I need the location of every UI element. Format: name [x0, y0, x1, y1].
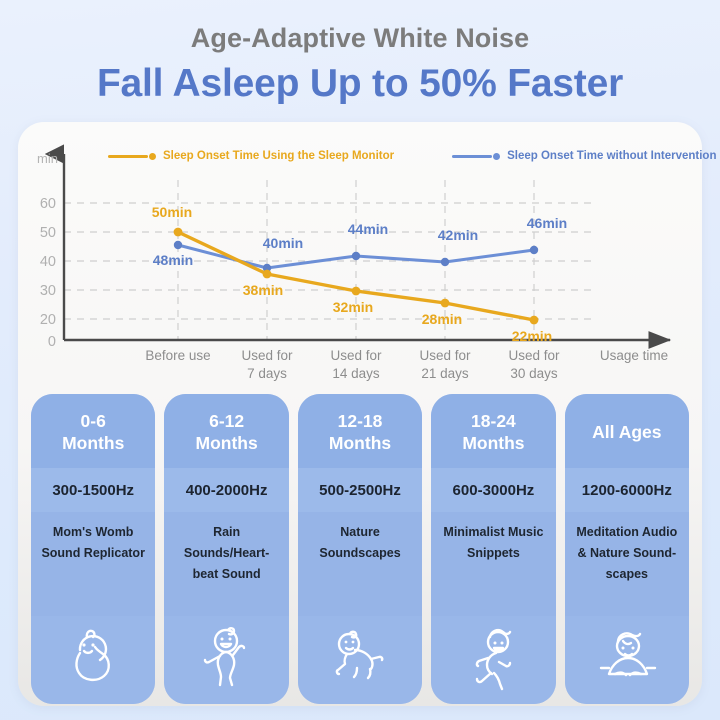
card-desc-line: Soundscapes: [319, 546, 400, 560]
card-frequency-label: 500-2500Hz: [298, 468, 422, 512]
card-desc-line: Minimalist Music: [443, 525, 543, 539]
crawling-baby-icon: [298, 616, 422, 704]
card-description: Mom's Womb Sound Replicator: [31, 512, 155, 616]
point-label: 44min: [348, 221, 388, 237]
point-labels-no-intervention: 48min 40min 44min 42min 46min: [153, 215, 567, 268]
standing-baby-icon: [164, 616, 288, 704]
card-age-line: Months: [196, 433, 258, 453]
card-description: Minimalist Music Snippets: [431, 512, 555, 616]
x-tick-label: 21 days: [421, 366, 469, 381]
chart-canvas: min 60 50 40 30 20 0 50min 38min 32min 2…: [18, 122, 702, 384]
point-label: 22min: [512, 328, 552, 344]
card-desc-line: Sounds/Heart-: [184, 546, 269, 560]
card-frequency-label: 400-2000Hz: [164, 468, 288, 512]
content-panel: Sleep Onset Time Using the Sleep Monitor…: [18, 122, 702, 706]
card-desc-line: Snippets: [467, 546, 520, 560]
chart-y-tick-labels: 60 50 40 30 20 0: [40, 196, 56, 350]
point-label: 50min: [152, 204, 192, 220]
x-tick-label: Used for: [508, 348, 560, 363]
x-tick-label: Used for: [419, 348, 471, 363]
chart-x-tick-labels: Before use Used for 7 days Used for 14 d…: [145, 348, 668, 381]
card-frequency-label: 300-1500Hz: [31, 468, 155, 512]
age-card-0-6-months[interactable]: 0-6 Months 300-1500Hz Mom's Womb Sound R…: [31, 394, 155, 704]
x-tick-label: 30 days: [510, 366, 558, 381]
x-tick-label: Used for: [330, 348, 382, 363]
card-age-label: 12-18 Months: [298, 394, 422, 468]
card-desc-line: Nature: [340, 525, 380, 539]
running-child-icon: [431, 616, 555, 704]
card-age-line: 12-18: [338, 411, 383, 431]
x-tick-label: Used for: [241, 348, 293, 363]
card-age-label: 6-12 Months: [164, 394, 288, 468]
page-title: Fall Asleep Up to 50% Faster: [0, 60, 720, 108]
point-label: 42min: [438, 227, 478, 243]
y-tick-label: 50: [40, 225, 56, 241]
card-age-line: 6-12: [209, 411, 244, 431]
chart-y-axis-title: min: [37, 151, 58, 166]
point-label: 48min: [153, 252, 193, 268]
sleep-onset-chart: Sleep Onset Time Using the Sleep Monitor…: [18, 122, 702, 384]
x-tick-label: 14 days: [332, 366, 380, 381]
age-card-12-18-months[interactable]: 12-18 Months 500-2500Hz Nature Soundscap…: [298, 394, 422, 704]
card-age-label: 18-24 Months: [431, 394, 555, 468]
kicker-text: Age-Adaptive White Noise: [0, 18, 720, 58]
point-label: 40min: [263, 235, 303, 251]
x-tick-label: Before use: [145, 348, 210, 363]
age-card-18-24-months[interactable]: 18-24 Months 600-3000Hz Minimalist Music…: [431, 394, 555, 704]
card-desc-line: scapes: [606, 567, 648, 581]
card-desc-line: Rain: [213, 525, 240, 539]
y-tick-label: 30: [40, 283, 56, 299]
card-desc-line: Mom's Womb: [53, 525, 134, 539]
card-age-label: All Ages: [565, 394, 689, 468]
card-frequency-label: 1200-6000Hz: [565, 468, 689, 512]
card-desc-line: Meditation Audio: [576, 525, 677, 539]
swaddled-baby-icon: [31, 616, 155, 704]
y-tick-label: 40: [40, 254, 56, 270]
age-cards-row: 0-6 Months 300-1500Hz Mom's Womb Sound R…: [31, 394, 689, 704]
card-age-line: Months: [62, 433, 124, 453]
card-frequency-label: 600-3000Hz: [431, 468, 555, 512]
age-card-6-12-months[interactable]: 6-12 Months 400-2000Hz Rain Sounds/Heart…: [164, 394, 288, 704]
card-age-line: Months: [329, 433, 391, 453]
meditating-child-icon: [565, 616, 689, 704]
card-description: Rain Sounds/Heart- beat Sound: [164, 512, 288, 616]
card-age-line: 18-24: [471, 411, 516, 431]
card-desc-line: Sound Replicator: [41, 546, 144, 560]
card-age-line: All Ages: [592, 421, 661, 443]
x-tick-label: 7 days: [247, 366, 287, 381]
y-tick-label: 20: [40, 312, 56, 328]
chart-x-axis-title: Usage time: [600, 348, 668, 363]
card-description: Meditation Audio & Nature Sound- scapes: [565, 512, 689, 616]
card-desc-line: & Nature Sound-: [578, 546, 677, 560]
point-label: 28min: [422, 311, 462, 327]
point-label: 38min: [243, 282, 283, 298]
point-label: 46min: [527, 215, 567, 231]
card-age-line: Months: [462, 433, 524, 453]
card-desc-line: beat Sound: [193, 567, 261, 581]
y-tick-label: 0: [48, 334, 56, 350]
page-header: Age-Adaptive White Noise Fall Asleep Up …: [0, 0, 720, 108]
card-age-label: 0-6 Months: [31, 394, 155, 468]
age-card-all-ages[interactable]: All Ages 1200-6000Hz Meditation Audio & …: [565, 394, 689, 704]
card-age-line: 0-6: [81, 411, 106, 431]
point-label: 32min: [333, 299, 373, 315]
y-tick-label: 60: [40, 196, 56, 212]
card-description: Nature Soundscapes: [298, 512, 422, 616]
